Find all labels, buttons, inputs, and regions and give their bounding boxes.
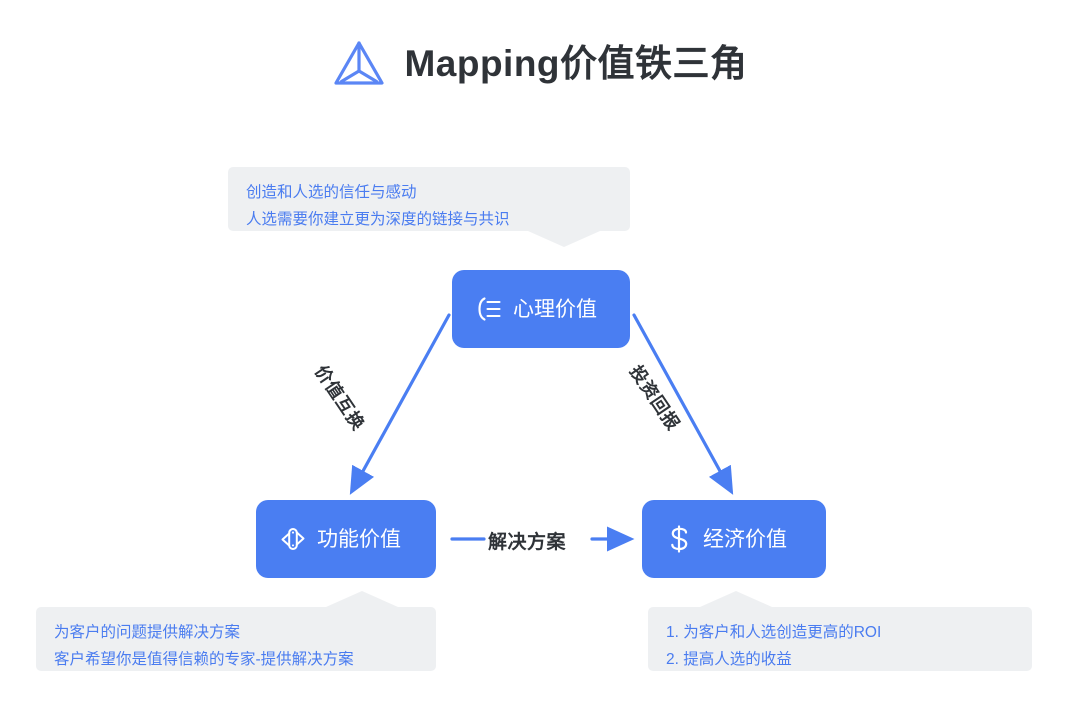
callout-functional-value: 为客户的问题提供解决方案 客户希望你是值得信赖的专家-提供解决方案 xyxy=(36,607,436,671)
callout-top-line-1: 创造和人选的信任与感动 xyxy=(246,179,610,206)
node-psychological-value[interactable]: 心理价值 xyxy=(452,270,630,348)
edge-label-solution: 解决方案 xyxy=(488,527,566,554)
callout-bottom-left-line-1: 为客户的问题提供解决方案 xyxy=(54,619,416,646)
callout-bottom-right-line-2: 2. 提高人选的收益 xyxy=(666,646,1012,673)
node-economic-value[interactable]: 经济价值 xyxy=(642,500,826,578)
triangle-logo-icon xyxy=(332,38,386,88)
node-functional-value[interactable]: 功能价值 xyxy=(256,500,436,578)
callout-bottom-left-line-2: 客户希望你是值得信赖的专家-提供解决方案 xyxy=(54,646,416,673)
callout-top-pointer-icon xyxy=(528,231,600,247)
page-title-text: Mapping价值铁三角 xyxy=(404,45,747,82)
node-psychological-value-label: 心理价值 xyxy=(513,299,597,320)
node-economic-value-label: 经济价值 xyxy=(703,529,787,550)
callout-bottom-right-pointer-icon xyxy=(700,591,772,607)
callout-economic-value: 1. 为客户和人选创造更高的ROI 2. 提高人选的收益 xyxy=(648,607,1032,671)
page-title: Mapping价值铁三角 xyxy=(0,38,1080,88)
diagram-canvas: Mapping价值铁三角 价值互换 投资回报 解决方案 xyxy=(0,0,1080,714)
node-functional-value-label: 功能价值 xyxy=(317,529,401,550)
pulse-wave-icon xyxy=(276,522,310,556)
callout-bottom-left-pointer-icon xyxy=(326,591,398,607)
edge-label-roi: 投资回报 xyxy=(624,360,686,435)
callout-bottom-right-line-1: 1. 为客户和人选创造更高的ROI xyxy=(666,619,1012,646)
edge-psych-to-function xyxy=(352,315,449,491)
edge-label-value-exchange: 价值互换 xyxy=(309,360,371,435)
dollar-sign-icon xyxy=(662,522,696,556)
thought-lines-icon xyxy=(472,292,506,326)
callout-psychological-value: 创造和人选的信任与感动 人选需要你建立更为深度的链接与共识 xyxy=(228,167,630,231)
callout-top-line-2: 人选需要你建立更为深度的链接与共识 xyxy=(246,206,610,233)
